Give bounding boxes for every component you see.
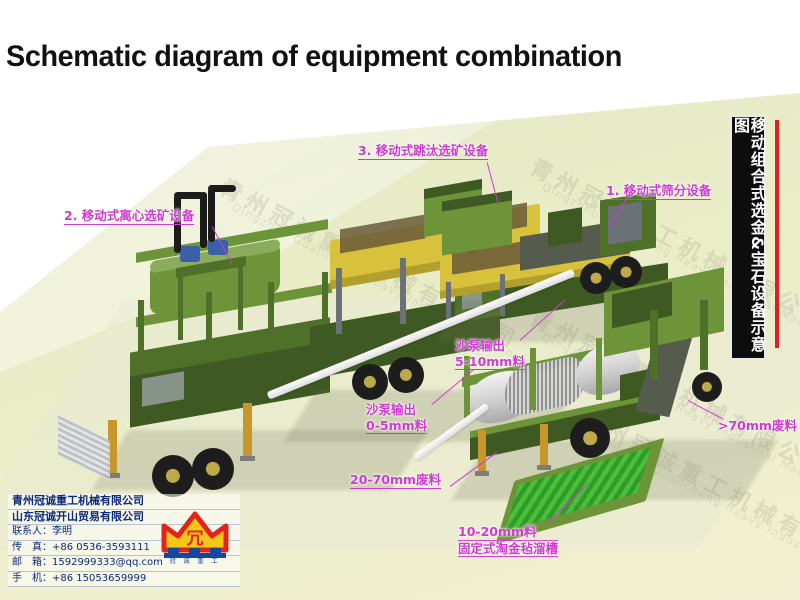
contact-fax-value: +86 0536-3593111: [52, 542, 150, 553]
label-sluice-10-20: 10-20mm料 固定式淘金毡溜槽: [458, 524, 558, 557]
contact-person-label: 联系人: [12, 525, 42, 540]
label-waste-20-70: 20-70mm废料: [350, 472, 441, 489]
contact-mobile-row: 手 机：+86 15053659999: [8, 572, 240, 588]
vertical-banner: 移动组合式选金&宝石设备示意图: [730, 115, 766, 360]
label-jig-plant: 3. 移动式跳汰选矿设备: [358, 143, 488, 160]
contact-email-label: 邮 箱: [12, 556, 42, 571]
page-title: Schematic diagram of equipment combinati…: [6, 40, 622, 74]
contact-person-value: 李明: [52, 526, 72, 537]
label-pump-output-0-5: 沙泵输出 0-5mm料: [366, 402, 427, 434]
vertical-banner-text: 移动组合式选金&宝石设备示意图: [731, 117, 765, 358]
contact-fax-label: 传 真: [12, 541, 42, 556]
label-pump-output-5-10: 沙泵输出 5-10mm料: [455, 338, 525, 370]
label-screening-plant: 1. 移动式筛分设备: [606, 183, 711, 200]
vertical-red-bar: [775, 120, 779, 348]
svg-text:冗: 冗: [187, 529, 204, 549]
schematic-canvas: 青州冠诚重工机械有限公司 Qingzhou Guancheng Heavy In…: [0, 0, 800, 600]
contact-email-value[interactable]: 1592999333@qq.com: [52, 557, 163, 568]
label-centrifugal-plant: 2. 移动式离心选矿设备: [64, 208, 194, 225]
contact-mobile-value: +86 15053659999: [52, 573, 146, 584]
label-waste-over-70: >70mm废料 液压折叠: [718, 418, 800, 434]
logo-caption: 冠 诚 重 工: [160, 556, 230, 565]
contact-mobile-label: 手 机: [12, 572, 42, 587]
